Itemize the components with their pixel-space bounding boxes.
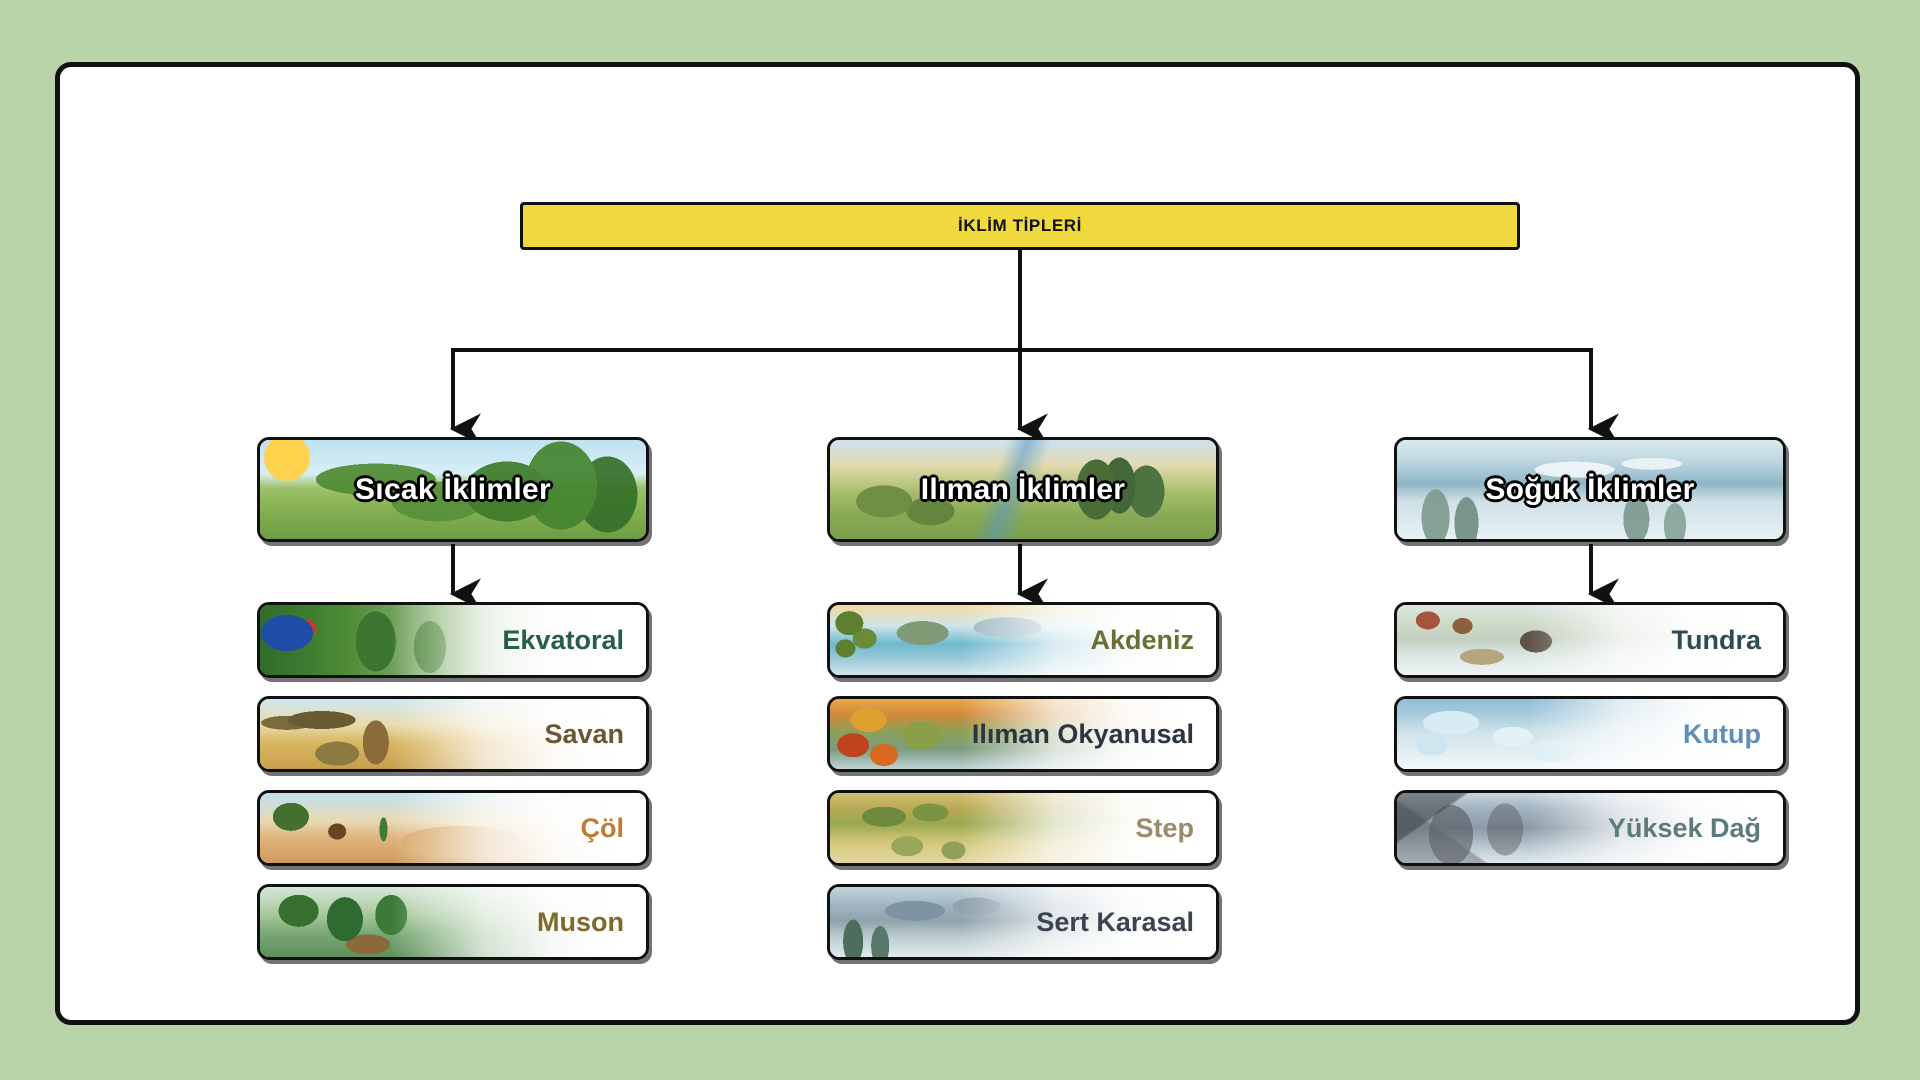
climate-item-label: Tundra: [1672, 625, 1784, 656]
climate-item-label: Step: [1135, 813, 1216, 844]
climate-item-label: Kutup: [1683, 719, 1783, 750]
root-node-label: İKLİM TİPLERİ: [958, 216, 1082, 236]
climate-item-box[interactable]: Sert Karasal: [827, 884, 1219, 960]
climate-item-box[interactable]: Kutup: [1394, 696, 1786, 772]
climate-item-label: Savan: [544, 719, 646, 750]
climate-item-box[interactable]: Ekvatoral: [257, 602, 649, 678]
climate-item-box[interactable]: Yüksek Dağ: [1394, 790, 1786, 866]
category-label-cold: Soğuk İklimler: [1397, 473, 1783, 507]
column-hot: Sıcak İklimlerEkvatoralSavanÇölMuson: [257, 437, 649, 960]
category-box-temperate[interactable]: Ilıman İklimler: [827, 437, 1219, 542]
climate-item-box[interactable]: Tundra: [1394, 602, 1786, 678]
climate-item-label: Sert Karasal: [1036, 907, 1216, 938]
climate-item-label: Ekvatoral: [502, 625, 646, 656]
climate-item-box[interactable]: Step: [827, 790, 1219, 866]
diagram-card: İKLİM TİPLERİ Sıcak İklimlerEkvatoralSav…: [55, 62, 1860, 1025]
climate-item-label: Muson: [537, 907, 646, 938]
category-box-hot[interactable]: Sıcak İklimler: [257, 437, 649, 542]
root-node-iklim-tipleri[interactable]: İKLİM TİPLERİ: [520, 202, 1520, 250]
category-label-temperate: Ilıman İklimler: [830, 473, 1216, 507]
climate-item-box[interactable]: Çöl: [257, 790, 649, 866]
climate-item-label: Akdeniz: [1090, 625, 1216, 656]
column-cold: Soğuk İklimlerTundraKutupYüksek Dağ: [1394, 437, 1786, 866]
climate-item-label: Çöl: [581, 813, 647, 844]
climate-item-label: Ilıman Okyanusal: [972, 719, 1216, 750]
climate-item-box[interactable]: Akdeniz: [827, 602, 1219, 678]
category-label-hot: Sıcak İklimler: [260, 473, 646, 507]
climate-item-box[interactable]: Muson: [257, 884, 649, 960]
column-temperate: Ilıman İklimlerAkdenizIlıman OkyanusalSt…: [827, 437, 1219, 960]
climate-item-label: Yüksek Dağ: [1608, 813, 1783, 844]
category-box-cold[interactable]: Soğuk İklimler: [1394, 437, 1786, 542]
climate-item-box[interactable]: Savan: [257, 696, 649, 772]
climate-item-box[interactable]: Ilıman Okyanusal: [827, 696, 1219, 772]
